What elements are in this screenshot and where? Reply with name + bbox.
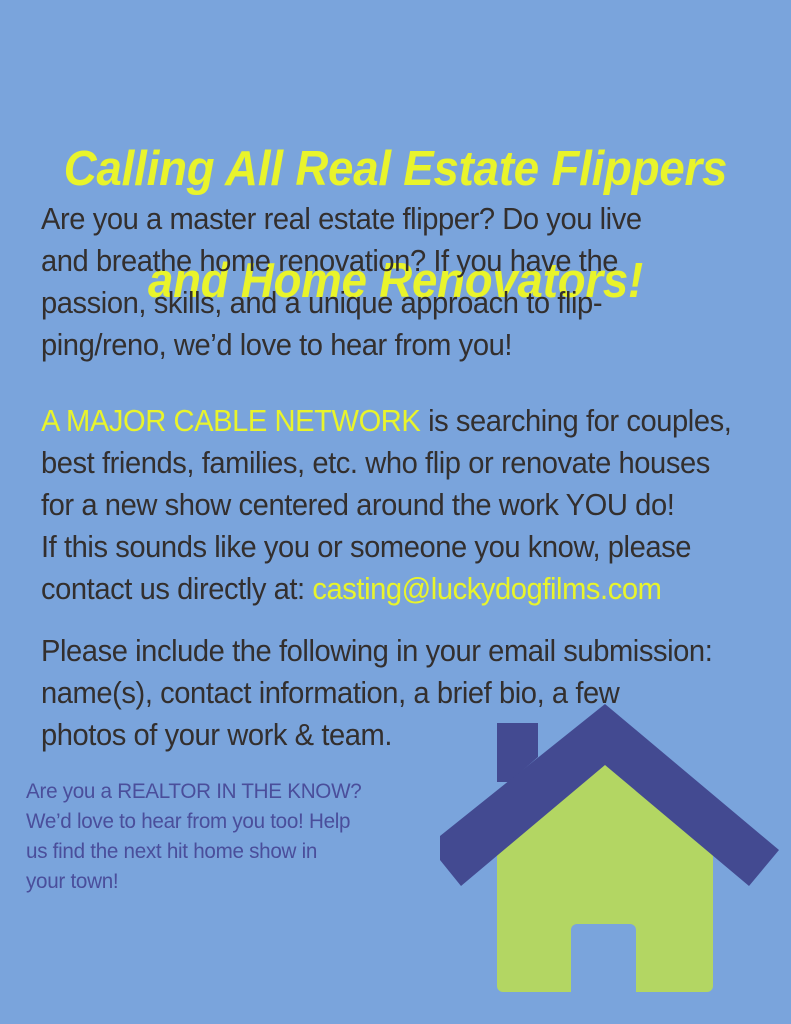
realtor-line-2: We’d love to hear from you too! Help bbox=[26, 806, 439, 836]
house-icon bbox=[440, 690, 791, 1024]
intro-line-1: Are you a master real estate flipper? Do… bbox=[41, 198, 767, 240]
headline-line-1: Calling All Real Estate Flippers bbox=[28, 141, 764, 197]
contact-prefix: contact us directly at: bbox=[41, 572, 312, 606]
intro-line-2: and breathe home renovation? If you have… bbox=[41, 240, 767, 282]
flyer-canvas: Calling All Real Estate Flippers and Hom… bbox=[0, 0, 791, 1024]
network-line-5: contact us directly at: casting@luckydog… bbox=[41, 568, 767, 610]
network-highlight: A MAJOR CABLE NETWORK bbox=[41, 404, 420, 438]
network-line-4: If this sounds like you or someone you k… bbox=[41, 526, 767, 568]
realtor-line-1: Are you a REALTOR IN THE KNOW? bbox=[26, 776, 439, 806]
paragraph-intro: Are you a master real estate flipper? Do… bbox=[41, 198, 767, 366]
submission-line-1: Please include the following in your ema… bbox=[41, 630, 767, 672]
realtor-line-3: us find the next hit home show in bbox=[26, 836, 439, 866]
contact-email[interactable]: casting@luckydogfilms.com bbox=[312, 572, 661, 606]
network-line-2: best friends, families, etc. who flip or… bbox=[41, 442, 767, 484]
network-line-3: for a new show centered around the work … bbox=[41, 484, 767, 526]
network-line-1-rest: is searching for couples, bbox=[420, 404, 731, 438]
paragraph-realtor: Are you a REALTOR IN THE KNOW? We’d love… bbox=[26, 776, 439, 896]
realtor-line-4: your town! bbox=[26, 866, 439, 896]
intro-line-4: ping/reno, we’d love to hear from you! bbox=[41, 324, 767, 366]
network-line-1: A MAJOR CABLE NETWORK is searching for c… bbox=[41, 400, 767, 442]
paragraph-network: A MAJOR CABLE NETWORK is searching for c… bbox=[41, 400, 767, 610]
intro-line-3: passion, skills, and a unique approach t… bbox=[41, 282, 767, 324]
